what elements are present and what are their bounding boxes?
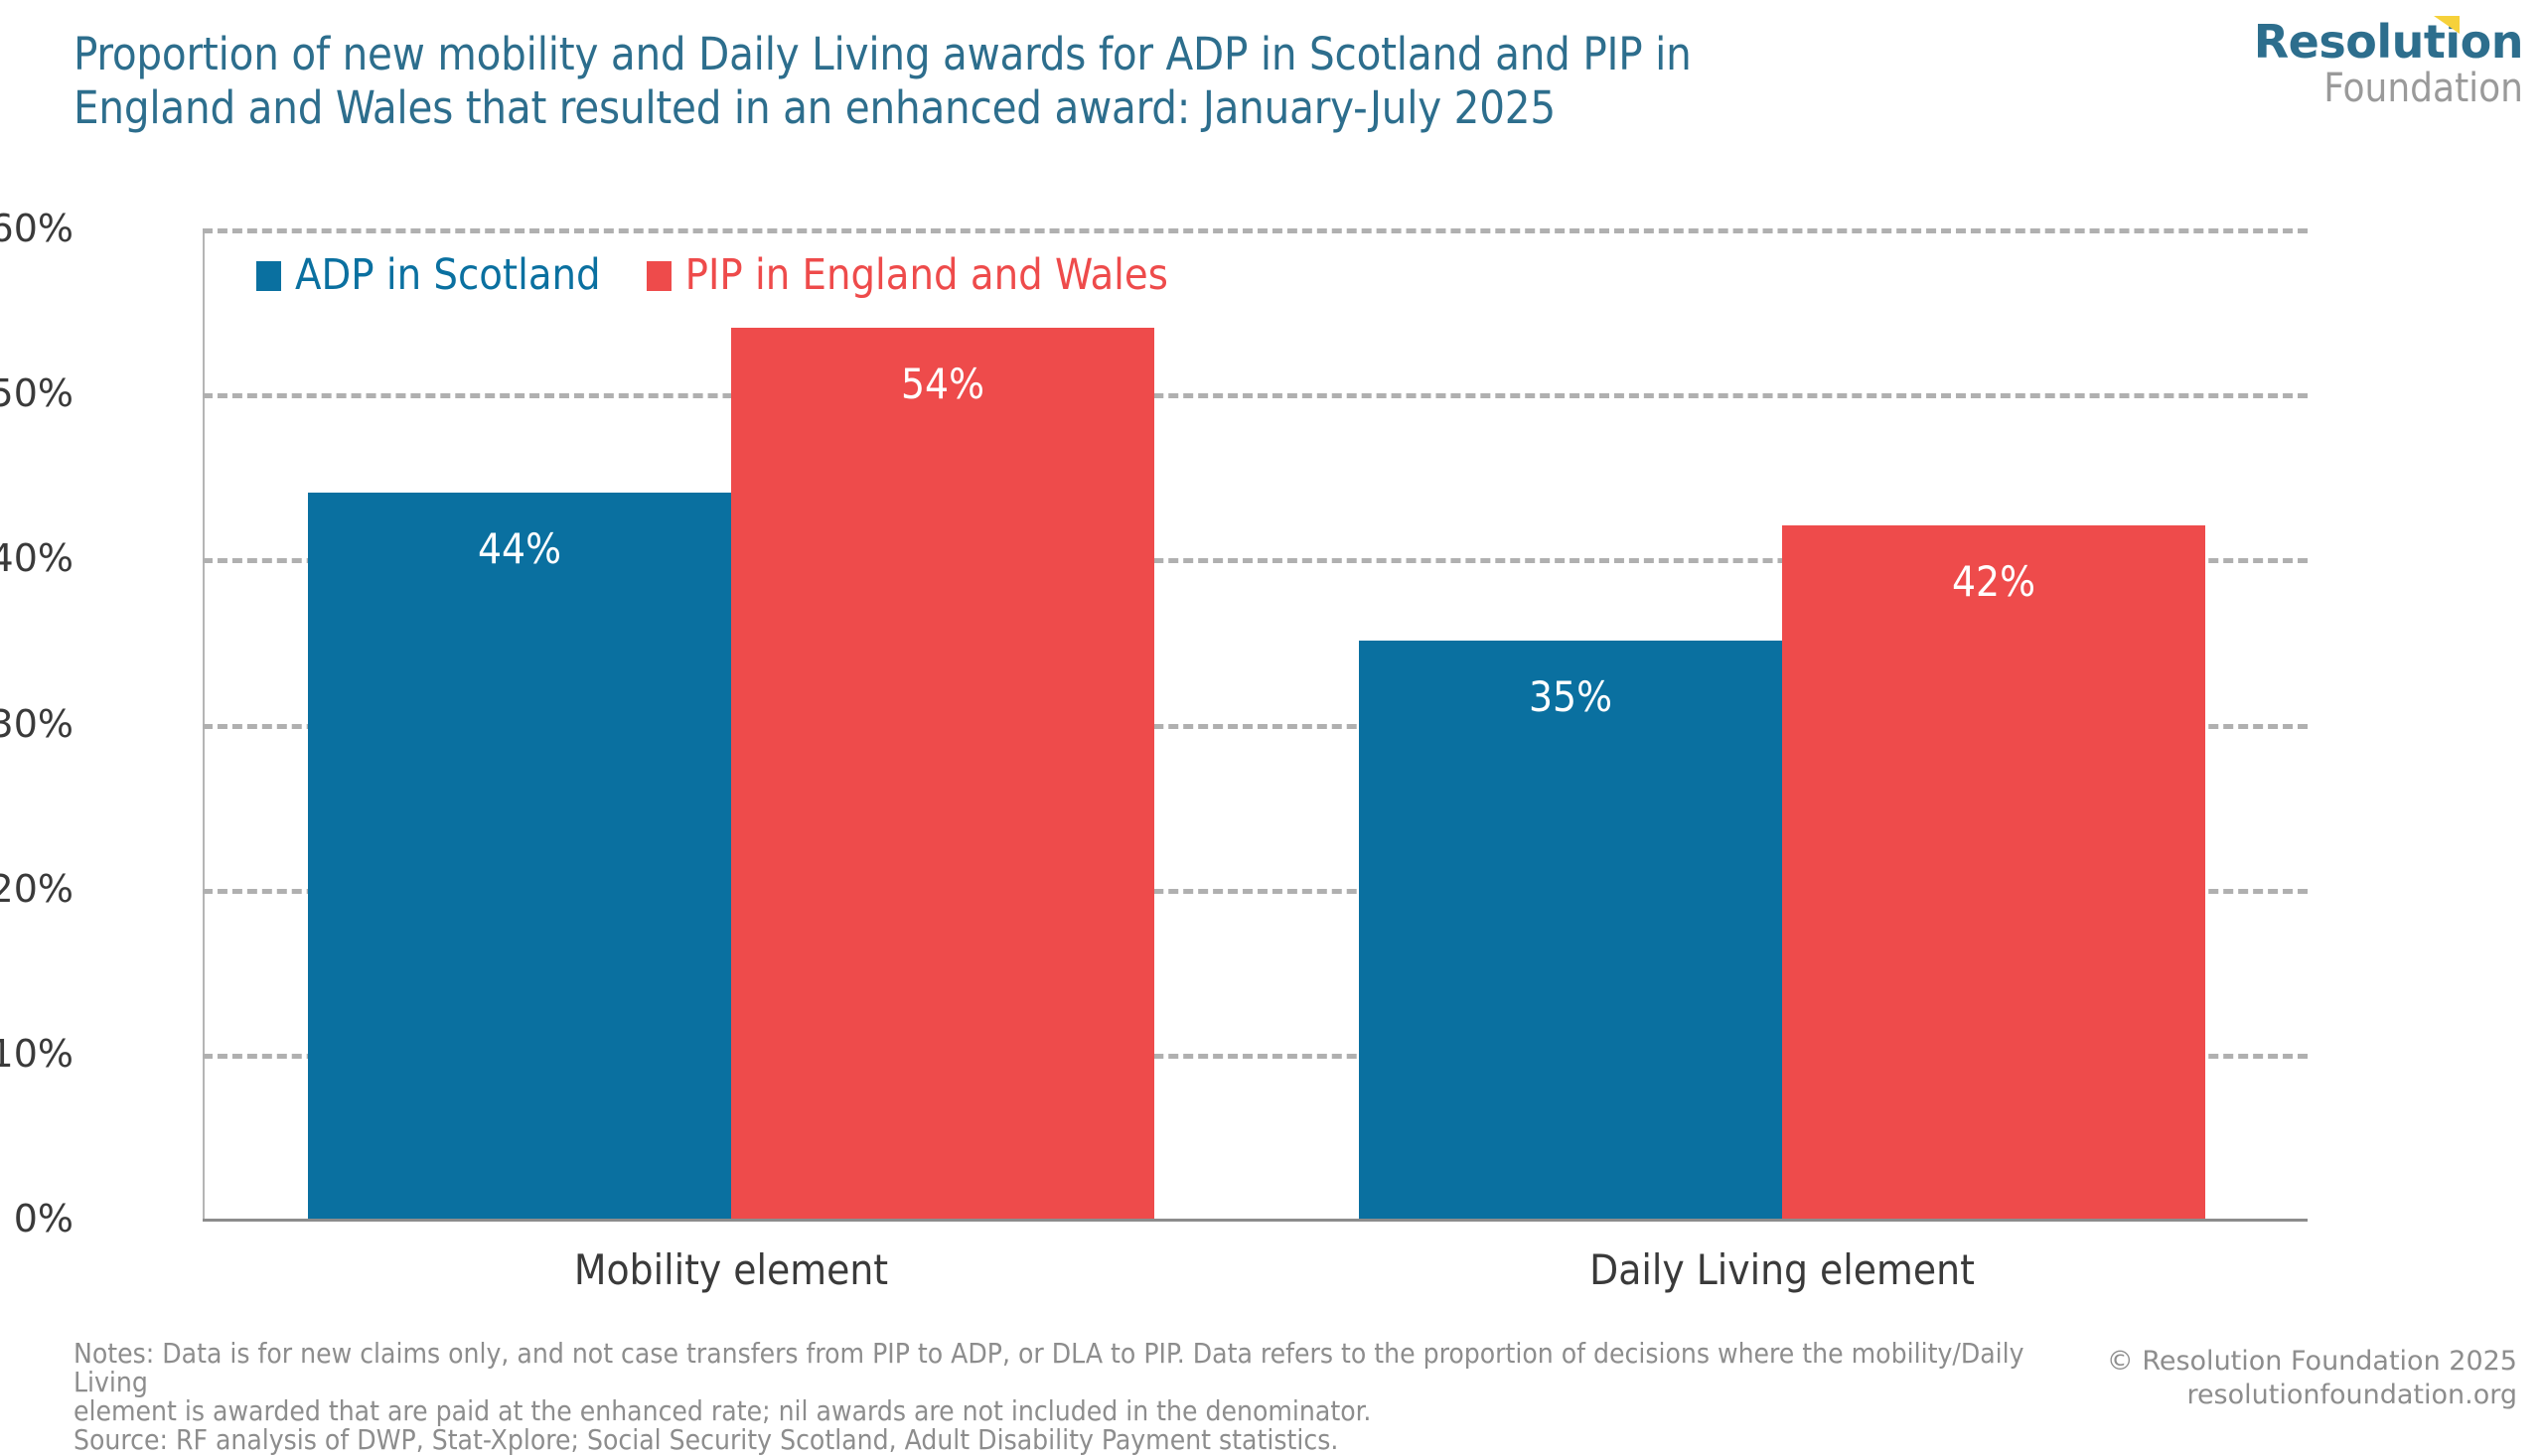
y-axis-tick-50: 50%: [0, 374, 74, 412]
logo-triangle-accent-icon: [2434, 16, 2460, 34]
legend-item-adp-in-scotland[interactable]: ADP in Scotland: [256, 254, 601, 297]
gridline-50: [203, 393, 2308, 398]
legend-label-pip-in-england-and-wales: PIP in England and Wales: [685, 254, 1168, 297]
copyright-text: © Resolution Foundation 2025: [2107, 1345, 2517, 1379]
y-axis-tick-10: 10%: [0, 1035, 74, 1073]
bar-daily-living-element-series-1[interactable]: 35%: [1359, 641, 1782, 1219]
bar-mobility-element-series-2[interactable]: 54%: [731, 328, 1154, 1219]
plot-area: 44%54%35%42%: [203, 228, 2308, 1219]
x-axis-baseline: [203, 1219, 2308, 1222]
x-axis-label-daily-living-element: Daily Living element: [1359, 1247, 2205, 1293]
legend-item-pip-in-england-and-wales[interactable]: PIP in England and Wales: [647, 254, 1168, 297]
y-axis-tick-30: 30%: [0, 705, 74, 743]
chart-legend: ADP in Scotland PIP in England and Wales: [256, 254, 1168, 297]
bar-value-label: 35%: [1359, 676, 1782, 718]
website-link[interactable]: resolutionfoundation.org: [2107, 1379, 2517, 1412]
footer-notes: Notes: Data is for new claims only, and …: [74, 1339, 2060, 1454]
gridline-60: [203, 228, 2308, 233]
logo-text-foundation: Foundation: [2185, 68, 2523, 109]
logo-text-resolution: Resolution: [2254, 15, 2523, 69]
x-axis-label-mobility-element: Mobility element: [308, 1247, 1154, 1293]
y-axis-tick-20: 20%: [0, 870, 74, 908]
page-title: Proportion of new mobility and Daily Liv…: [74, 28, 2110, 135]
legend-label-adp-in-scotland: ADP in Scotland: [295, 254, 601, 297]
bar-value-label: 42%: [1782, 561, 2205, 603]
bar-value-label: 44%: [308, 528, 731, 570]
footer-credit: © Resolution Foundation 2025 resolutionf…: [2107, 1345, 2517, 1412]
y-axis-tick-40: 40%: [0, 539, 74, 577]
resolution-foundation-logo: Resolution Foundation: [2185, 18, 2523, 109]
y-axis-tick-60: 60%: [0, 210, 74, 247]
bar-mobility-element-series-1[interactable]: 44%: [308, 493, 731, 1219]
logo-wordmark-resolution: Resolution: [2254, 18, 2523, 66]
legend-swatch-adp-in-scotland: [256, 261, 281, 291]
y-axis-tick-0: 0%: [0, 1200, 74, 1238]
bar-value-label: 54%: [731, 364, 1154, 405]
bar-daily-living-element-series-2[interactable]: 42%: [1782, 525, 2205, 1219]
legend-swatch-pip-in-england-and-wales: [647, 261, 672, 291]
